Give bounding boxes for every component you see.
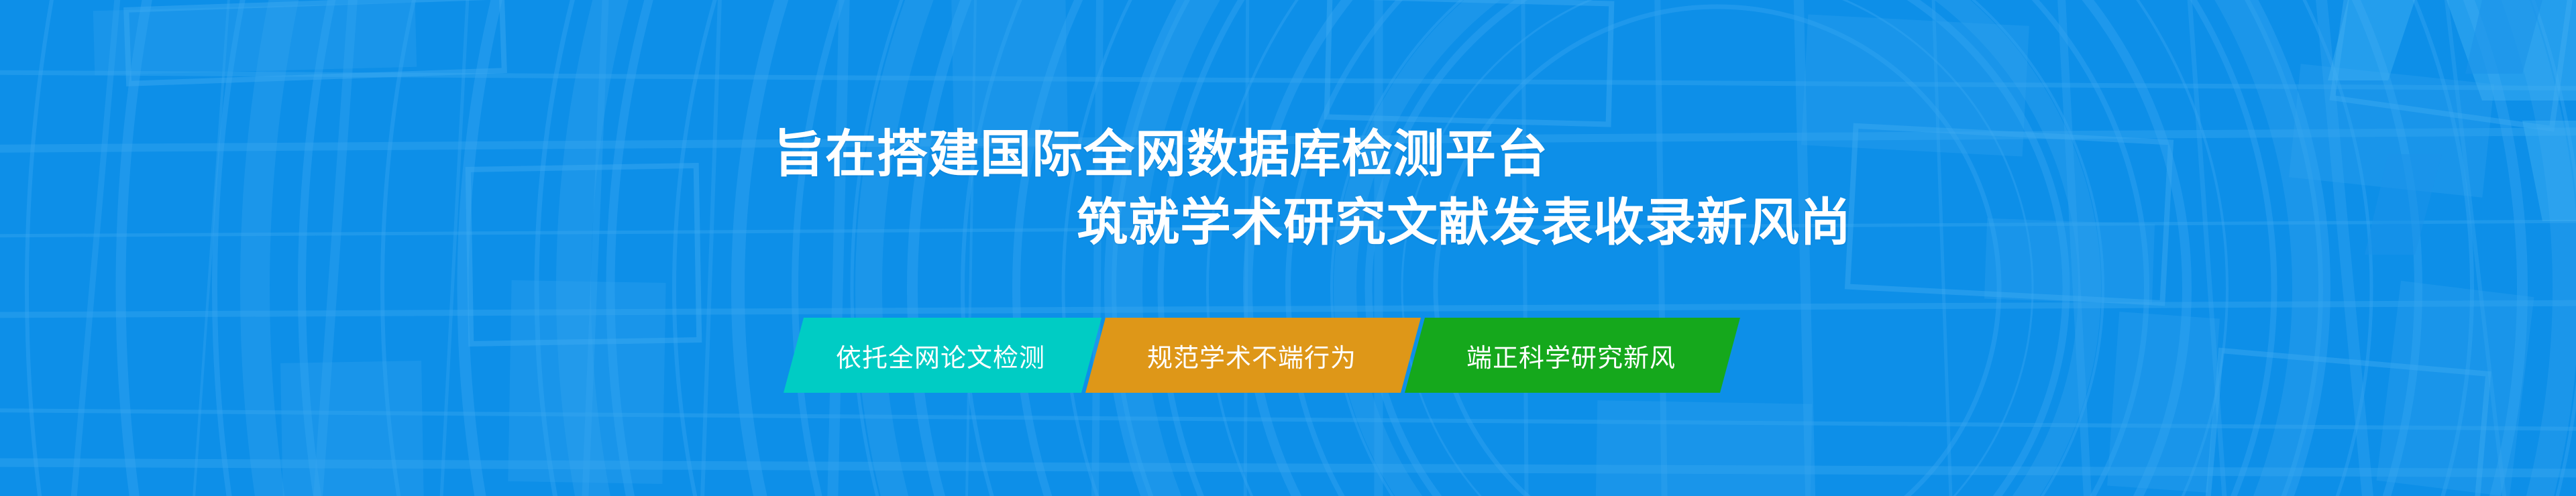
ribbon-paper-detection[interactable]: 依托全网论文检测 — [784, 318, 1102, 393]
headline-block: 旨在搭建国际全网数据库检测平台 筑就学术研究文献发表收录新风尚 — [0, 121, 2576, 257]
ribbon-paper-detection-label: 依托全网论文检测 — [836, 337, 1045, 374]
feature-ribbon-strip: 依托全网论文检测 规范学术不端行为 端正科学研究新风 — [765, 318, 1818, 393]
headline-line-1: 旨在搭建国际全网数据库检测平台 — [0, 121, 2576, 189]
ribbon-research-ethos[interactable]: 端正科学研究新风 — [1405, 318, 1740, 393]
ribbon-misconduct-regulation[interactable]: 规范学术不端行为 — [1085, 318, 1421, 393]
promo-banner: 旨在搭建国际全网数据库检测平台 筑就学术研究文献发表收录新风尚 依托全网论文检测… — [0, 0, 2576, 496]
ribbon-research-ethos-label: 端正科学研究新风 — [1466, 337, 1676, 374]
headline-line-2: 筑就学术研究文献发表收录新风尚 — [0, 189, 2576, 257]
ribbon-misconduct-regulation-label: 规范学术不端行为 — [1147, 337, 1356, 374]
